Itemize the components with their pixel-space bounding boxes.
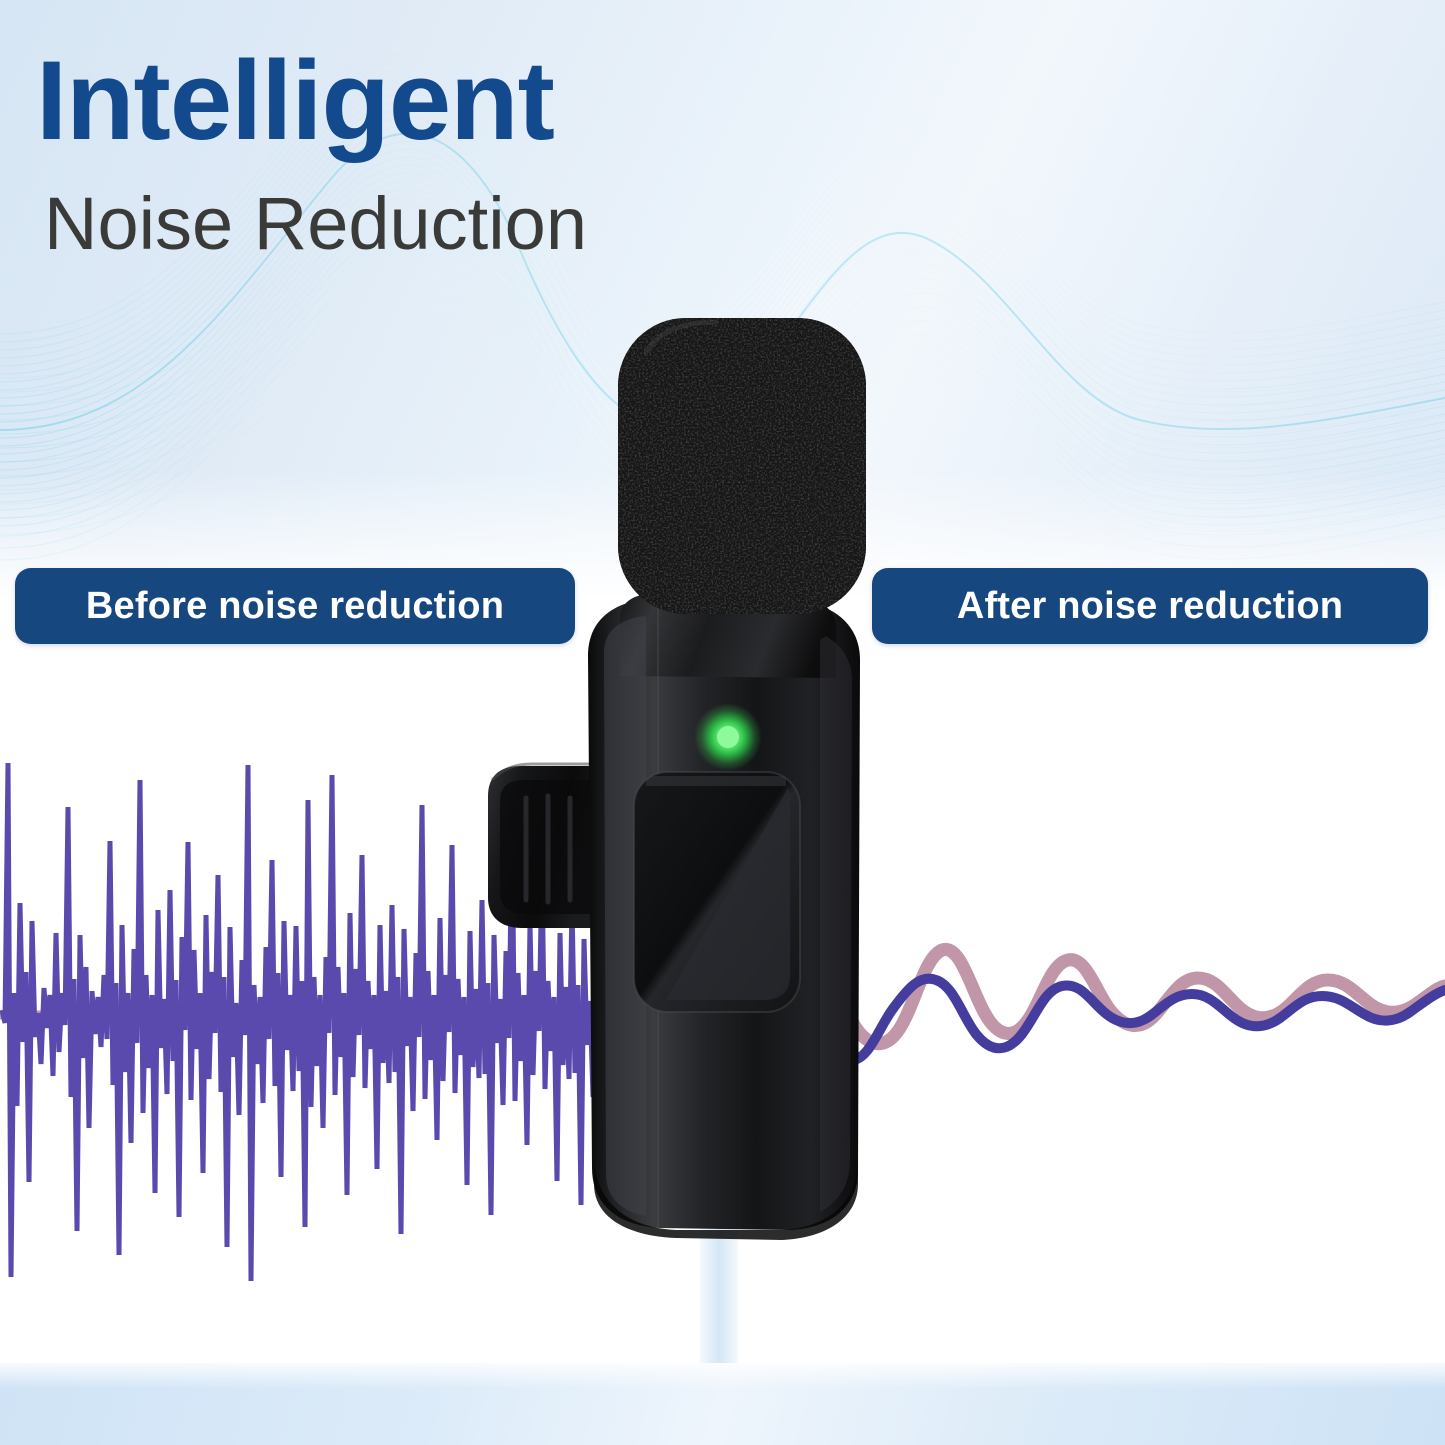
page-subtitle: Noise Reduction — [44, 185, 587, 263]
badge-after-noise-reduction[interactable]: After noise reduction — [872, 568, 1428, 644]
page-title: Intelligent — [36, 42, 554, 160]
status-led — [694, 703, 762, 771]
microphone-clip — [488, 764, 596, 928]
badge-after-label: After noise reduction — [957, 585, 1343, 628]
microphone-product-image — [470, 300, 900, 1260]
background-bottom-band — [0, 1363, 1445, 1445]
foam-windscreen — [618, 318, 866, 614]
microphone-front-panel — [634, 772, 800, 1012]
product-poster: Intelligent Noise Reduction Before noise… — [0, 0, 1445, 1445]
badge-before-label: Before noise reduction — [86, 585, 504, 628]
